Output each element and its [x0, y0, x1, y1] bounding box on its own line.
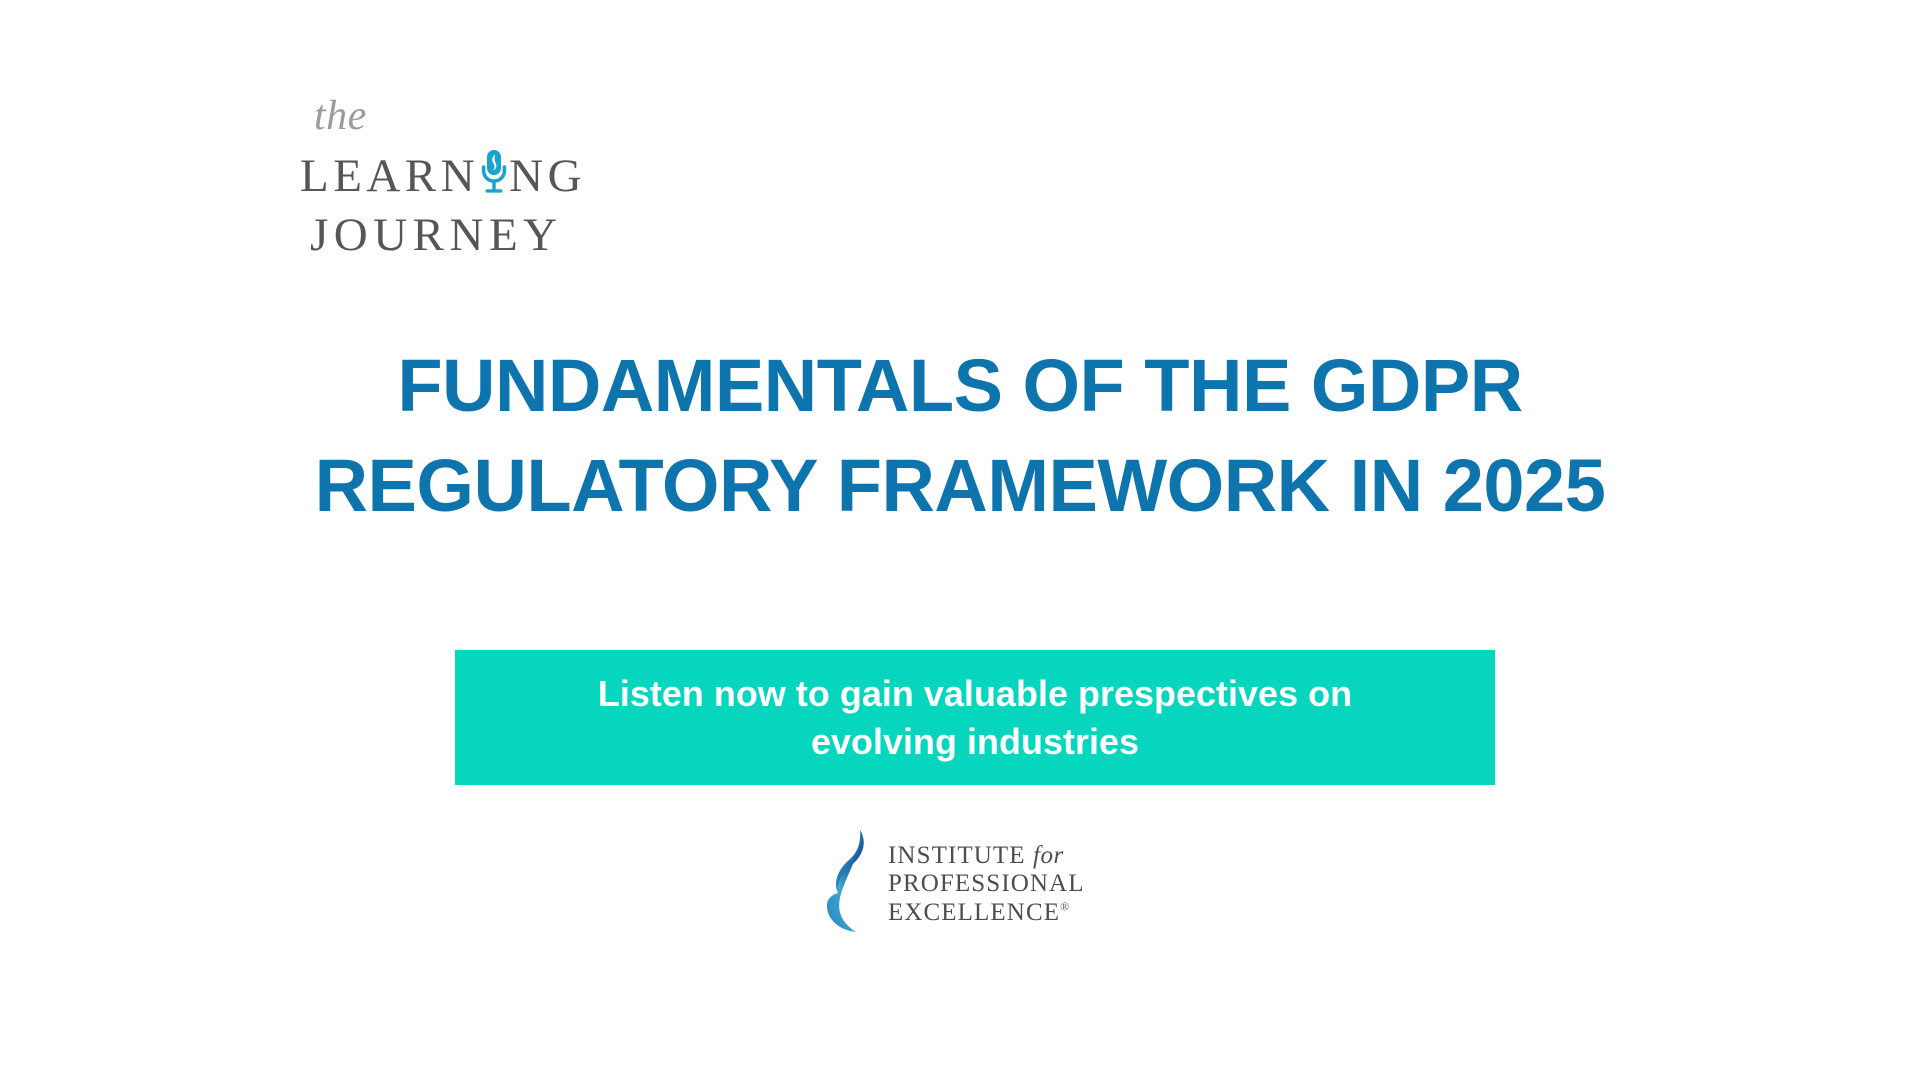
- brand-learning-part2: NG: [509, 153, 586, 200]
- brand-logo: the LEARN NG JOURNEY: [300, 95, 610, 230]
- brand-learning-part1: LEARN: [300, 153, 479, 200]
- partner-logo: INSTITUTE for PROFESSIONAL EXCELLENCE®: [820, 822, 1120, 947]
- cta-line-2: evolving industries: [811, 721, 1139, 762]
- partner-excellence-text: EXCELLENCE: [888, 899, 1060, 926]
- brand-the-script: the: [314, 95, 610, 137]
- cta-banner-text: Listen now to gain valuable prespectives…: [574, 670, 1376, 765]
- partner-wordmark: INSTITUTE for PROFESSIONAL EXCELLENCE®: [888, 842, 1085, 927]
- partner-institute-text: INSTITUTE: [888, 842, 1026, 869]
- brand-journey-text: JOURNEY: [310, 212, 563, 259]
- partner-line-1: INSTITUTE for: [888, 842, 1085, 870]
- page-title: FUNDAMENTALS OF THE GDPR REGULATORY FRAM…: [0, 336, 1920, 537]
- registered-trademark-icon: ®: [1060, 899, 1070, 913]
- partner-line-2: PROFESSIONAL: [888, 870, 1085, 898]
- partner-for-text: for: [1033, 842, 1064, 869]
- partner-line-3: EXCELLENCE®: [888, 899, 1085, 927]
- microphone-icon: [479, 143, 509, 191]
- brand-journey-wordmark: JOURNEY: [310, 212, 610, 259]
- cta-banner[interactable]: Listen now to gain valuable prespectives…: [455, 650, 1495, 785]
- headline-line-1: FUNDAMENTALS OF THE GDPR: [0, 336, 1920, 437]
- brand-learning-wordmark: LEARN NG: [300, 143, 610, 200]
- headline-line-2: REGULATORY FRAMEWORK IN 2025: [0, 436, 1920, 537]
- swoosh-flame-icon: [820, 826, 878, 943]
- cta-line-1: Listen now to gain valuable prespectives…: [598, 673, 1352, 714]
